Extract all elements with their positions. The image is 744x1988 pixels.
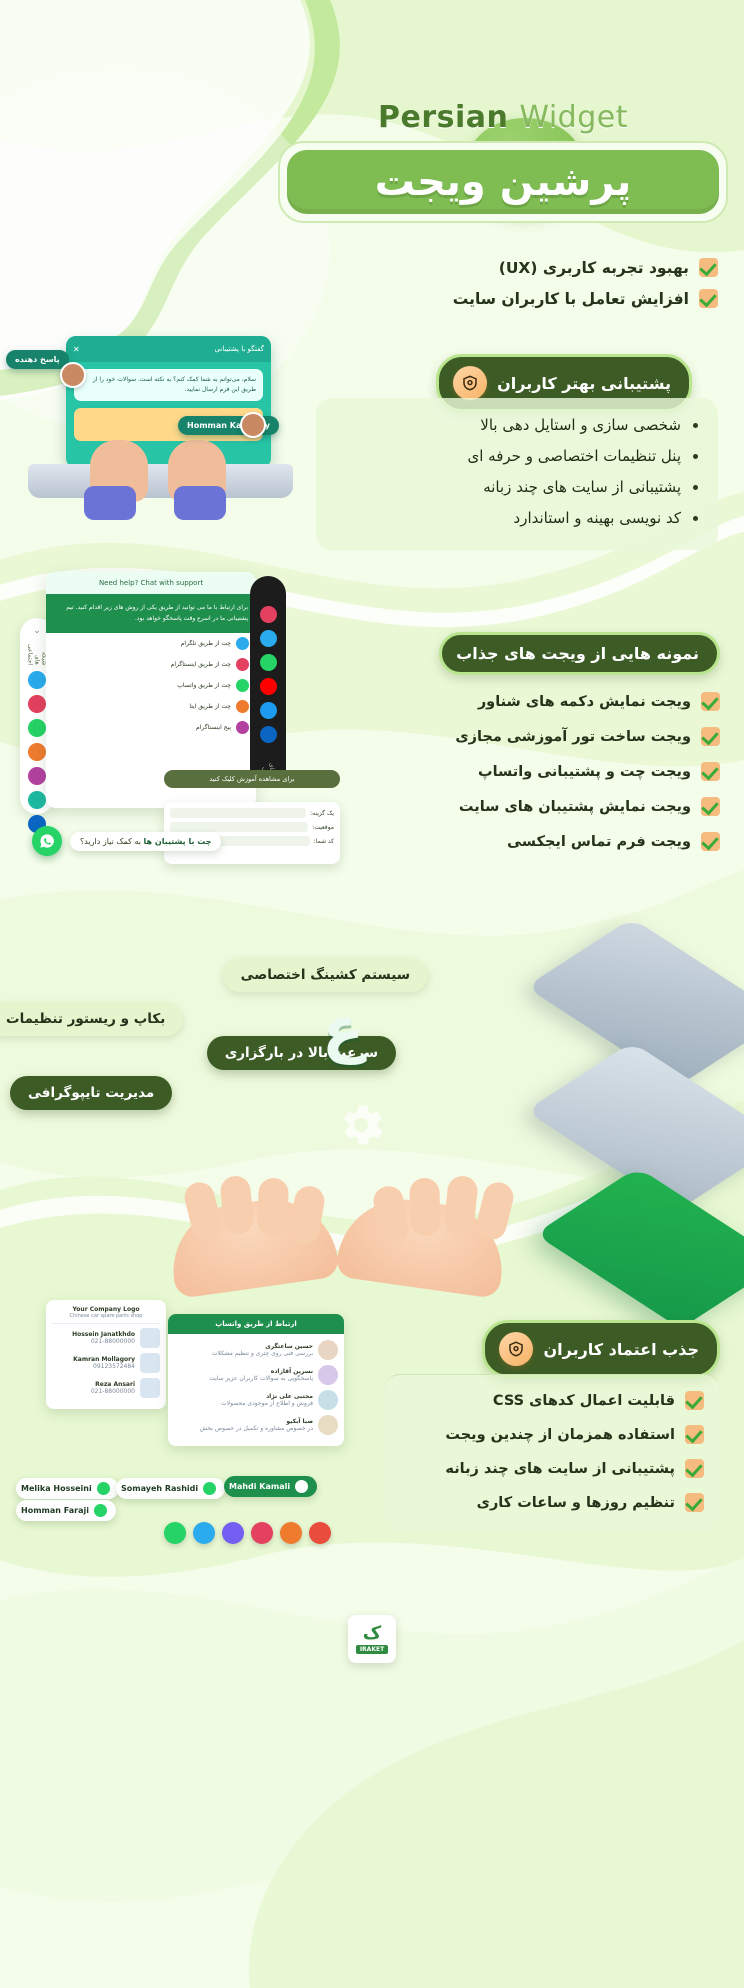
brand-letter: ع: [322, 992, 364, 1065]
tour-cta-banner[interactable]: برای مشاهده آموزش کلیک کنید: [164, 770, 340, 788]
telegram-icon[interactable]: [193, 1522, 215, 1544]
brand-english: Persian Widget: [278, 100, 728, 135]
trust-item-label: استفاده همزمان از چندین ویجت: [445, 1427, 675, 1443]
support-role: در خصوص مشاوره و تکمیل در خصوص بخش: [200, 1425, 313, 1432]
contact-name: Reza Ansari: [95, 1381, 135, 1388]
trust-item-label: تنظیم روزها و ساعات کاری: [477, 1495, 675, 1511]
feature-chip-backup: بکاپ و ریستور تنظیمات: [0, 1002, 183, 1036]
bullet-dot-icon: [693, 516, 698, 521]
chevron-down-icon[interactable]: ⌄: [33, 626, 41, 636]
contact-row[interactable]: Hossein Janatkhdo 021-88000000: [52, 1328, 160, 1348]
whatsapp-icon[interactable]: [28, 719, 46, 737]
bale-icon[interactable]: [28, 791, 46, 809]
widgets-section-title: نمونه هایی از ویجت های جذاب: [439, 632, 720, 675]
finger: [219, 1175, 255, 1236]
trust-items-card: قابلیت اعمال کدهای CSS استفاده همزمان از…: [384, 1374, 720, 1533]
finger: [409, 1177, 441, 1236]
form-input[interactable]: [170, 808, 306, 818]
float-note-question: به کمک نیاز دارید؟: [80, 837, 141, 846]
laptop-chat-title: گفتگو با پشتیبانی: [215, 345, 264, 353]
contact-row[interactable]: Kamran Mollagory 09123572484: [52, 1353, 160, 1373]
name-chip-somayeh[interactable]: Somayeh Rashidi: [116, 1478, 225, 1499]
hero-check-list: بهبود تجربه کاربری (UX) افزایش تعامل با …: [453, 258, 718, 320]
support-row[interactable]: حسین ساعتگری بررسی فنی روی چتری و تنظیم …: [174, 1340, 338, 1360]
footer-logo[interactable]: ک IRAKET: [348, 1615, 396, 1663]
name-chip-label: Melika Hosseini: [21, 1484, 92, 1493]
youtube-icon[interactable]: [260, 678, 277, 695]
hero-check-item-0: بهبود تجربه کاربری (UX): [453, 258, 718, 277]
check-icon: [701, 727, 720, 746]
viber-icon[interactable]: [222, 1522, 244, 1544]
instagram-chip-row[interactable]: پیج اینستاگرام: [46, 717, 256, 738]
chat-option-row[interactable]: چت از طریق واتساپ: [46, 675, 256, 696]
support-item-0: شخصی سازی و استایل دهی بالا: [336, 416, 698, 434]
chat-option-label: چت از طریق اینستاگرام: [171, 661, 231, 668]
trust-item-label: پشتیبانی از سایت های چند زبانه: [445, 1461, 675, 1477]
feature-chip-speed: سرعت بالا در بارگزاری: [207, 1036, 396, 1070]
feature-chip-label: مدیریت تایپوگرافی: [28, 1085, 154, 1101]
check-icon: [701, 797, 720, 816]
whatsapp-icon: [295, 1480, 308, 1493]
hero-check-label: افزایش تعامل با کاربران سایت: [453, 290, 689, 308]
instagram-icon: [236, 721, 249, 734]
shield-lock-icon: [499, 1332, 533, 1366]
laptop-chat-header: گفتگو با پشتیبانی ✕: [66, 336, 271, 362]
tag-responder: پاسخ دهنده: [6, 350, 69, 369]
finger: [257, 1177, 289, 1236]
support-row[interactable]: مجتبی علی نژاد فروش و اطلاع از موجودی مح…: [174, 1390, 338, 1410]
support-item-label: شخصی سازی و استایل دهی بالا: [480, 416, 681, 434]
instagram-icon[interactable]: [251, 1522, 273, 1544]
telegram-icon[interactable]: [28, 671, 46, 689]
check-icon: [701, 762, 720, 781]
widget-item-0: ویجت نمایش دکمه های شناور: [390, 692, 720, 711]
widget-item-label: ویجت فرم تماس ایجکسی: [507, 834, 691, 850]
finger: [473, 1179, 516, 1243]
close-icon: ✕: [73, 345, 80, 354]
page-header: +۱۰ ویجت فعال Persian Widget پرشین ویجت: [0, 0, 744, 250]
form-row: موقعیت:: [170, 822, 334, 832]
support-name: نسرین آقازاده: [271, 1368, 313, 1375]
support-item-2: پشتیبانی از سایت های چند زبانه: [336, 478, 698, 496]
check-icon: [701, 832, 720, 851]
feature-chip-label: بکاپ و ریستور تنظیمات: [6, 1011, 165, 1027]
avatar: [318, 1340, 338, 1360]
twitter-icon[interactable]: [260, 702, 277, 719]
avatar: [60, 362, 86, 388]
form-field-label: موقعیت:: [312, 824, 334, 831]
whatsapp-icon: [203, 1482, 216, 1495]
whatsapp-float-button[interactable]: [32, 826, 62, 856]
avatar: [140, 1328, 160, 1348]
bullet-dot-icon: [693, 454, 698, 459]
trust-section-title: جذب اعتماد کاربران: [482, 1320, 720, 1378]
avatar: [318, 1365, 338, 1385]
eitaa-icon[interactable]: [280, 1522, 302, 1544]
support-role: پاسخگویی به سوالات کاربران عزیز سایت: [209, 1375, 313, 1382]
whatsapp-icon: [97, 1482, 110, 1495]
support-items-card: شخصی سازی و استایل دهی بالا پنل تنظیمات …: [316, 398, 718, 550]
name-chip-homman[interactable]: Homman Faraji: [16, 1500, 116, 1521]
page-footer: ک IRAKET: [0, 1590, 744, 1688]
sleeve-right: [174, 486, 226, 520]
chat-option-row[interactable]: چت از طریق اینستاگرام: [46, 654, 256, 675]
instagram-alt-icon[interactable]: [28, 767, 46, 785]
check-icon: [685, 1391, 704, 1410]
social-rail-label: شبکه های اجتماعی: [27, 644, 48, 665]
section-trust: Your Company Logo Chinese car spare part…: [0, 1290, 744, 1590]
avatar: [240, 412, 266, 438]
telegram-icon: [236, 637, 249, 650]
linkedin-icon[interactable]: [260, 726, 277, 743]
support-item-label: پشتیبانی از سایت های چند زبانه: [483, 478, 681, 496]
social-icon-row: [164, 1522, 331, 1544]
eitaa-icon: [236, 700, 249, 713]
bullet-dot-icon: [693, 485, 698, 490]
trust-title-wrap: جذب اعتماد کاربران: [482, 1320, 720, 1378]
contact-phone: 09123572484: [93, 1363, 135, 1370]
instagram-icon: [236, 658, 249, 671]
contact-name: Hossein Janatkhdo: [72, 1331, 135, 1338]
instagram-chip-label: پیج اینستاگرام: [196, 724, 231, 731]
form-row: یک گزینه:: [170, 808, 334, 818]
laptop-illustration: گفتگو با پشتیبانی ✕ سلام، می‌توانم به شم…: [28, 336, 293, 556]
close-icon[interactable]: [309, 1522, 331, 1544]
widget-item-1: ویجت ساخت تور آموزشی مجازی: [390, 727, 720, 746]
support-name: صبا آبکیو: [286, 1418, 313, 1425]
contact-phone: 021-88000000: [91, 1338, 135, 1345]
widget-item-label: ویجت چت و پشتیبانی واتساپ: [478, 764, 691, 780]
laptop-bubble-text: سلام، می‌توانم به شما کمک کنم؟ به نکته ا…: [74, 369, 263, 401]
feature-chip-caching: سیستم کشینگ اختصاصی: [223, 958, 428, 992]
open-hands-illustration: [170, 1196, 570, 1288]
widget-item-label: ویجت نمایش دکمه های شناور: [478, 694, 691, 710]
check-icon: [699, 258, 718, 277]
brand-persian: پرشین ویجت: [307, 159, 699, 205]
contact-cards-mockup: Your Company Logo Chinese car spare part…: [16, 1300, 346, 1550]
infographic-page: +۱۰ ویجت فعال Persian Widget پرشین ویجت …: [0, 0, 744, 1988]
check-icon: [685, 1425, 704, 1444]
chat-option-label: چت از طریق تلگرام: [181, 640, 231, 647]
support-item-3: کد نویسی بهینه و استاندارد: [336, 509, 698, 527]
brand-block: Persian Widget پرشین ویجت: [278, 100, 728, 223]
support-name: مجتبی علی نژاد: [266, 1393, 313, 1400]
section-widget-samples: ⌄ شبکه های اجتماعی Need help? Chat with …: [0, 570, 744, 940]
brand-box: پرشین ویجت: [287, 150, 719, 214]
chat-mock-header: Need help? Chat with support: [46, 572, 256, 594]
whatsapp-icon[interactable]: [164, 1522, 186, 1544]
typing-hands: [90, 440, 240, 512]
name-chip-label: Somayeh Rashidi: [121, 1484, 198, 1493]
bullet-dot-icon: [693, 423, 698, 428]
name-chip-label: Homman Faraji: [21, 1506, 89, 1515]
gear-icon: [334, 1098, 388, 1152]
chat-option-label: چت از طریق ایتا: [189, 703, 231, 710]
sleeve-left: [84, 486, 136, 520]
avatar: [140, 1353, 160, 1373]
hero-check-item-1: افزایش تعامل با کاربران سایت: [453, 289, 718, 308]
support-list-card: ارتباط از طریق واتساپ حسین ساعتگری بررسی…: [168, 1314, 344, 1446]
tour-cta-label: برای مشاهده آموزش کلیک کنید: [209, 775, 294, 783]
contact-name: Kamran Mollagory: [73, 1356, 135, 1363]
widget-mockups: ⌄ شبکه های اجتماعی Need help? Chat with …: [14, 570, 344, 870]
feature-chip-typography: مدیریت تایپوگرافی: [10, 1076, 172, 1110]
trust-item-label: قابلیت اعمال کدهای CSS: [493, 1393, 675, 1409]
whatsapp-float-note[interactable]: چت با پشتیبان ها به کمک نیاز دارید؟: [70, 832, 221, 851]
telegram-icon[interactable]: [260, 630, 277, 647]
widget-item-3: ویجت نمایش پشتیبان های سایت: [390, 797, 720, 816]
widgets-title-wrap: نمونه هایی از ویجت های جذاب: [439, 632, 720, 675]
brand-english-light: Widget: [519, 100, 628, 135]
widget-item-label: ویجت نمایش پشتیبان های سایت: [459, 799, 691, 815]
widget-item-2: ویجت چت و پشتیبانی واتساپ: [390, 762, 720, 781]
avatar: [318, 1390, 338, 1410]
name-chip-melika[interactable]: Melika Hosseini: [16, 1478, 119, 1499]
support-title-label: پشتیبانی بهتر کاربران: [497, 374, 671, 393]
footer-logo-mark: ک: [363, 1625, 381, 1643]
float-note-bold: چت با پشتیبان ها: [144, 837, 212, 846]
company-card-title: Your Company Logo: [52, 1306, 160, 1313]
support-row[interactable]: صبا آبکیو در خصوص مشاوره و تکمیل در خصوص…: [174, 1415, 338, 1435]
check-icon: [701, 692, 720, 711]
widget-item-label: ویجت ساخت تور آموزشی مجازی: [455, 729, 691, 745]
eitaa-icon[interactable]: [28, 743, 46, 761]
widget-item-4: ویجت فرم تماس ایجکسی: [390, 832, 720, 851]
instagram-icon[interactable]: [28, 695, 46, 713]
widgets-check-list: ویجت نمایش دکمه های شناور ویجت ساخت تور …: [390, 692, 720, 867]
name-chip-mahdi[interactable]: Mahdi Kamali: [224, 1476, 317, 1497]
shield-lock-icon: [453, 366, 487, 400]
support-name: حسین ساعتگری: [265, 1343, 313, 1350]
support-row[interactable]: نسرین آقازاده پاسخگویی به سوالات کاربران…: [174, 1365, 338, 1385]
trust-item-1: استفاده همزمان از چندین ویجت: [400, 1425, 704, 1444]
name-chip-label: Mahdi Kamali: [229, 1482, 290, 1491]
form-field-label: کد شما:: [314, 838, 334, 845]
company-card-sub: Chinese car spare parts shop: [52, 1313, 160, 1319]
trust-item-2: پشتیبانی از سایت های چند زبانه: [400, 1459, 704, 1478]
contact-row[interactable]: Reza Ansari 021-88000000: [52, 1378, 160, 1398]
section-performance-layers: ع سیستم کشینگ اختصاصی بکاپ و ریستور تنظی…: [0, 940, 744, 1290]
company-card: Your Company Logo Chinese car spare part…: [46, 1300, 166, 1409]
chat-option-row[interactable]: چت از طریق تلگرام: [46, 633, 256, 654]
form-field-label: یک گزینه:: [310, 810, 334, 817]
support-role: فروش و اطلاع از موجودی محصولات: [221, 1400, 313, 1407]
support-item-label: پنل تنظیمات اختصاصی و حرفه ای: [468, 447, 682, 465]
trust-item-3: تنظیم روزها و ساعات کاری: [400, 1493, 704, 1512]
check-icon: [685, 1459, 704, 1478]
instagram-icon[interactable]: [260, 606, 277, 623]
support-banner: ارتباط از طریق واتساپ: [168, 1314, 344, 1334]
support-item-label: کد نویسی بهینه و استاندارد: [514, 509, 681, 527]
check-icon: [685, 1493, 704, 1512]
hero-check-label: بهبود تجربه کاربری (UX): [499, 259, 689, 277]
trust-item-0: قابلیت اعمال کدهای CSS: [400, 1391, 704, 1410]
support-item-1: پنل تنظیمات اختصاصی و حرفه ای: [336, 447, 698, 465]
widgets-title-label: نمونه هایی از ویجت های جذاب: [456, 644, 699, 663]
chat-mock-intro: برای ارتباط با ما می توانید از طریق یکی …: [46, 594, 256, 633]
contact-phone: 021-88000000: [91, 1388, 135, 1395]
footer-logo-text: IRAKET: [356, 1645, 388, 1654]
chat-option-row[interactable]: چت از طریق ایتا: [46, 696, 256, 717]
brand-english-bold: Persian: [378, 100, 508, 135]
support-role: بررسی فنی روی چتری و تنظیم مشکلات: [212, 1350, 313, 1357]
form-input[interactable]: [170, 822, 308, 832]
avatar: [318, 1415, 338, 1435]
check-icon: [699, 289, 718, 308]
trust-title-label: جذب اعتماد کاربران: [543, 1340, 699, 1359]
feature-chip-label: سیستم کشینگ اختصاصی: [241, 967, 410, 983]
avatar: [140, 1378, 160, 1398]
chat-option-label: چت از طریق واتساپ: [177, 682, 231, 689]
section-support: بهبود تجربه کاربری (UX) افزایش تعامل با …: [0, 250, 744, 570]
whatsapp-icon[interactable]: [260, 654, 277, 671]
whatsapp-icon: [236, 679, 249, 692]
brand-frame: پرشین ویجت: [278, 141, 728, 223]
social-rail-dark: شبکه های اجتماعی: [250, 576, 286, 788]
whatsapp-icon: [94, 1504, 107, 1517]
